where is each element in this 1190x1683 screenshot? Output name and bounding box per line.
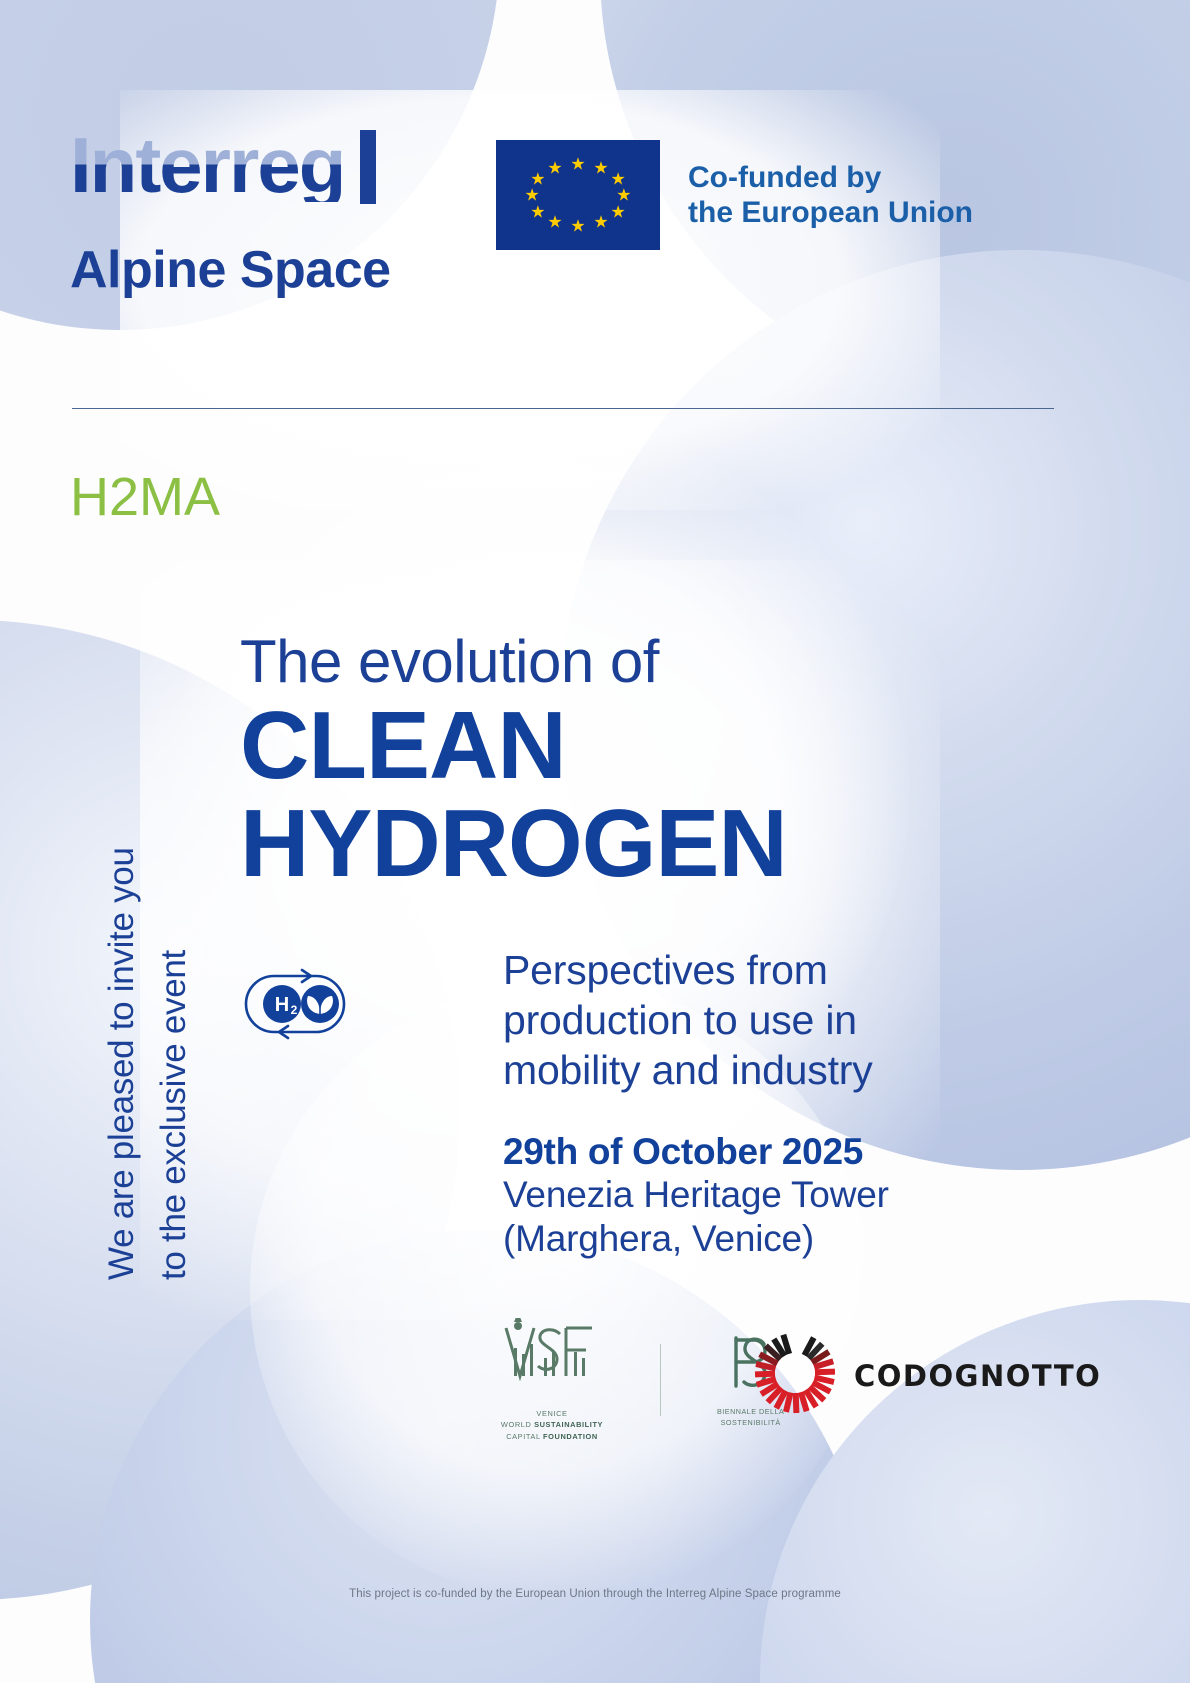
event-subtitle: Perspectives from production to use in m… <box>503 945 1023 1095</box>
invite-line-1: We are pleased to invite you <box>102 847 142 1280</box>
invite-line-2: to the exclusive event <box>154 950 194 1280</box>
vsf-caption-line-3: CAPITAL FOUNDATION <box>501 1431 603 1442</box>
event-venue-line-2: (Marghera, Venice) <box>503 1217 1023 1261</box>
title-block: The evolution of CLEAN HYDROGEN <box>240 630 1100 893</box>
eu-flag-icon: ★ ★ ★ ★ ★ ★ ★ ★ ★ ★ ★ ★ <box>496 140 660 250</box>
eu-funding-text: Co-funded by the European Union <box>688 160 973 231</box>
codognotto-mark-icon <box>752 1330 838 1421</box>
event-subtitle-line-1: Perspectives from <box>503 945 1023 995</box>
event-venue-line-1: Venezia Heritage Tower <box>503 1173 1023 1217</box>
interreg-wordmark: Interreg <box>70 130 344 202</box>
title-main: CLEAN HYDROGEN <box>240 697 1100 893</box>
vsf-caption-line-2: WORLD SUSTAINABILITY <box>501 1419 603 1430</box>
svg-text:H: H <box>275 994 289 1016</box>
hydrogen-recycling-icon: H 2 <box>240 960 350 1050</box>
title-pretext: The evolution of <box>240 630 1100 693</box>
event-subtitle-line-2: production to use in <box>503 995 1023 1045</box>
svg-text:2: 2 <box>291 1003 298 1017</box>
vsf-caption-line-1: VENICE <box>501 1408 603 1419</box>
codognotto-wordmark: CODOGNOTTO <box>854 1359 1101 1393</box>
footer-funding-note: This project is co-funded by the Europea… <box>0 1588 1190 1600</box>
logo-separator <box>660 1344 661 1416</box>
eu-funding-line-1: Co-funded by <box>688 160 973 195</box>
vsf-mark-icon <box>500 1318 604 1404</box>
eu-funding-block: ★ ★ ★ ★ ★ ★ ★ ★ ★ ★ ★ ★ Co-funded by the… <box>496 140 973 250</box>
interreg-bar-icon <box>360 130 376 204</box>
title-main-line-1: CLEAN <box>240 692 566 799</box>
logo-codognotto: CODOGNOTTO <box>752 1330 1101 1421</box>
event-venue: Venezia Heritage Tower (Marghera, Venice… <box>503 1173 1023 1262</box>
interreg-logo: Interreg <box>70 130 376 204</box>
eu-funding-line-2: the European Union <box>688 195 973 230</box>
event-date: 29th of October 2025 <box>503 1131 1023 1173</box>
vsf-caption: VENICE WORLD SUSTAINABILITY CAPITAL FOUN… <box>501 1408 603 1441</box>
title-main-line-2: HYDROGEN <box>240 795 1100 893</box>
project-acronym: H2MA <box>70 466 220 528</box>
poster-canvas: Interreg Alpine Space ★ ★ ★ ★ ★ ★ ★ ★ ★ … <box>0 0 1190 1683</box>
invitation-vertical-text: We are pleased to invite you to the excl… <box>98 740 228 1280</box>
event-subtitle-line-3: mobility and industry <box>503 1045 1023 1095</box>
event-details: Perspectives from production to use in m… <box>503 945 1023 1262</box>
header-divider <box>72 408 1054 409</box>
logo-vsf: VENICE WORLD SUSTAINABILITY CAPITAL FOUN… <box>500 1318 604 1441</box>
